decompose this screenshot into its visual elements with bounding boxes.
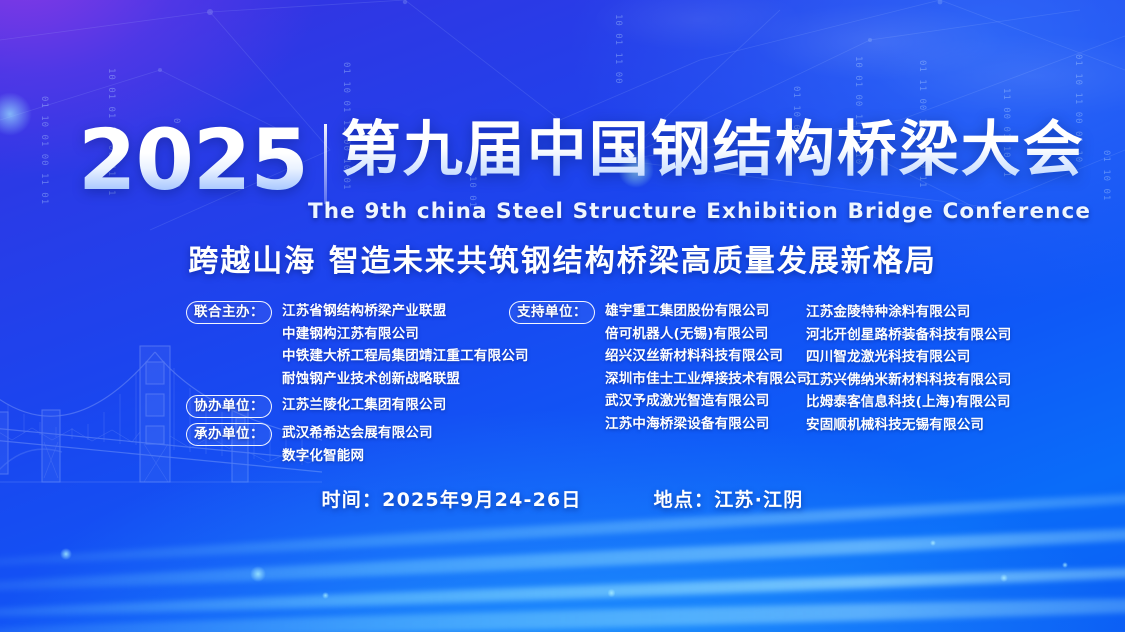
- sponsor-group-joint-host: 联合主办： 江苏省钢结构桥梁产业联盟 中建钢构江苏有限公司 中铁建大桥工程局集团…: [186, 300, 506, 390]
- event-location: 地点：江苏·江阴: [654, 485, 804, 512]
- conference-title-en: The 9th china Steel Structure Exhibition…: [308, 199, 1091, 224]
- sponsor-name: 雄宇重工集团股份有限公司: [605, 300, 811, 323]
- sponsor-name: 安固顺机械科技无锡有限公司: [806, 414, 1106, 437]
- conference-title-cn: 第九届中国钢结构桥梁大会: [341, 118, 1085, 182]
- organizer-label: 承办单位：: [186, 423, 272, 446]
- joint-host-names: 江苏省钢结构桥梁产业联盟 中建钢构江苏有限公司 中铁建大桥工程局集团靖江重工有限…: [282, 300, 529, 390]
- sponsor-column-right: 江苏金陵特种涂料有限公司 河北开创星路桥装备科技有限公司 四川智龙激光科技有限公…: [806, 301, 1106, 436]
- sponsors-section: 联合主办： 江苏省钢结构桥梁产业联盟 中建钢构江苏有限公司 中铁建大桥工程局集团…: [0, 300, 1125, 450]
- year-number: 2025: [78, 118, 308, 202]
- sponsor-name: 耐蚀钢产业技术创新战略联盟: [282, 368, 529, 391]
- sponsor-group-organizer: 承办单位： 武汉希希达会展有限公司 数字化智能网: [186, 422, 506, 467]
- title-row: 2025 第九届中国钢结构桥梁大会: [78, 118, 1085, 204]
- sponsor-name: 江苏省钢结构桥梁产业联盟: [282, 300, 529, 323]
- binary-code-decoration: 10 01 11 00: [612, 14, 623, 85]
- supporter-names-col2: 江苏金陵特种涂料有限公司 河北开创星路桥装备科技有限公司 四川智龙激光科技有限公…: [806, 301, 1106, 436]
- sponsor-name: 倍可机器人(无锡)有限公司: [605, 323, 811, 346]
- co-organizer-names: 江苏兰陵化工集团有限公司: [282, 394, 446, 417]
- sponsor-name: 中建钢构江苏有限公司: [282, 323, 529, 346]
- sponsor-column-middle: 支持单位： 雄宇重工集团股份有限公司 倍可机器人(无锡)有限公司 绍兴汉丝新材料…: [509, 300, 809, 437]
- supporter-names-col1: 雄宇重工集团股份有限公司 倍可机器人(无锡)有限公司 绍兴汉丝新材料科技有限公司…: [605, 300, 811, 435]
- sponsor-name: 武汉希希达会展有限公司: [282, 422, 433, 445]
- sponsor-group-co-organizer: 协办单位： 江苏兰陵化工集团有限公司: [186, 394, 506, 418]
- binary-code-decoration: 01 10 01: [1100, 150, 1111, 201]
- sponsor-name: 江苏兴佛纳米新材料科技有限公司: [806, 369, 1106, 392]
- sponsor-group-supporters: 支持单位： 雄宇重工集团股份有限公司 倍可机器人(无锡)有限公司 绍兴汉丝新材料…: [509, 300, 809, 435]
- joint-host-label: 联合主办：: [186, 301, 272, 324]
- sponsor-name: 江苏中海桥梁设备有限公司: [605, 413, 811, 436]
- glow-dot: [0, 92, 32, 136]
- title-divider: [324, 124, 327, 204]
- event-meta: 时间：2025年9月24-26日 地点：江苏·江阴: [0, 485, 1125, 512]
- sponsor-name: 河北开创星路桥装备科技有限公司: [806, 324, 1106, 347]
- sponsor-name: 中铁建大桥工程局集团靖江重工有限公司: [282, 345, 529, 368]
- binary-code-decoration: 01 10 01 00 11 01: [38, 96, 49, 205]
- sponsor-name: 数字化智能网: [282, 445, 433, 468]
- sponsor-column-left: 联合主办： 江苏省钢结构桥梁产业联盟 中建钢构江苏有限公司 中铁建大桥工程局集团…: [186, 300, 506, 469]
- sponsor-name: 江苏兰陵化工集团有限公司: [282, 394, 446, 417]
- sponsor-name: 绍兴汉丝新材料科技有限公司: [605, 345, 811, 368]
- supporters-label: 支持单位：: [509, 301, 595, 324]
- event-date: 时间：2025年9月24-26日: [322, 485, 582, 512]
- conference-poster: 01 10 01 00 11 01 10 01 01 10 00 11 01 0…: [0, 0, 1125, 632]
- sponsor-name: 武汉予成激光智造有限公司: [605, 390, 811, 413]
- sponsor-name: 比姆泰客信息科技(上海)有限公司: [806, 391, 1106, 414]
- co-organizer-label: 协办单位：: [186, 395, 272, 418]
- sponsor-name: 深圳市佳士工业焊接技术有限公司: [605, 368, 811, 391]
- sponsor-name: 四川智龙激光科技有限公司: [806, 346, 1106, 369]
- sponsor-name: 江苏金陵特种涂料有限公司: [806, 301, 1106, 324]
- conference-slogan: 跨越山海 智造未来共筑钢结构桥梁高质量发展新格局: [0, 236, 1125, 280]
- organizer-names: 武汉希希达会展有限公司 数字化智能网: [282, 422, 433, 467]
